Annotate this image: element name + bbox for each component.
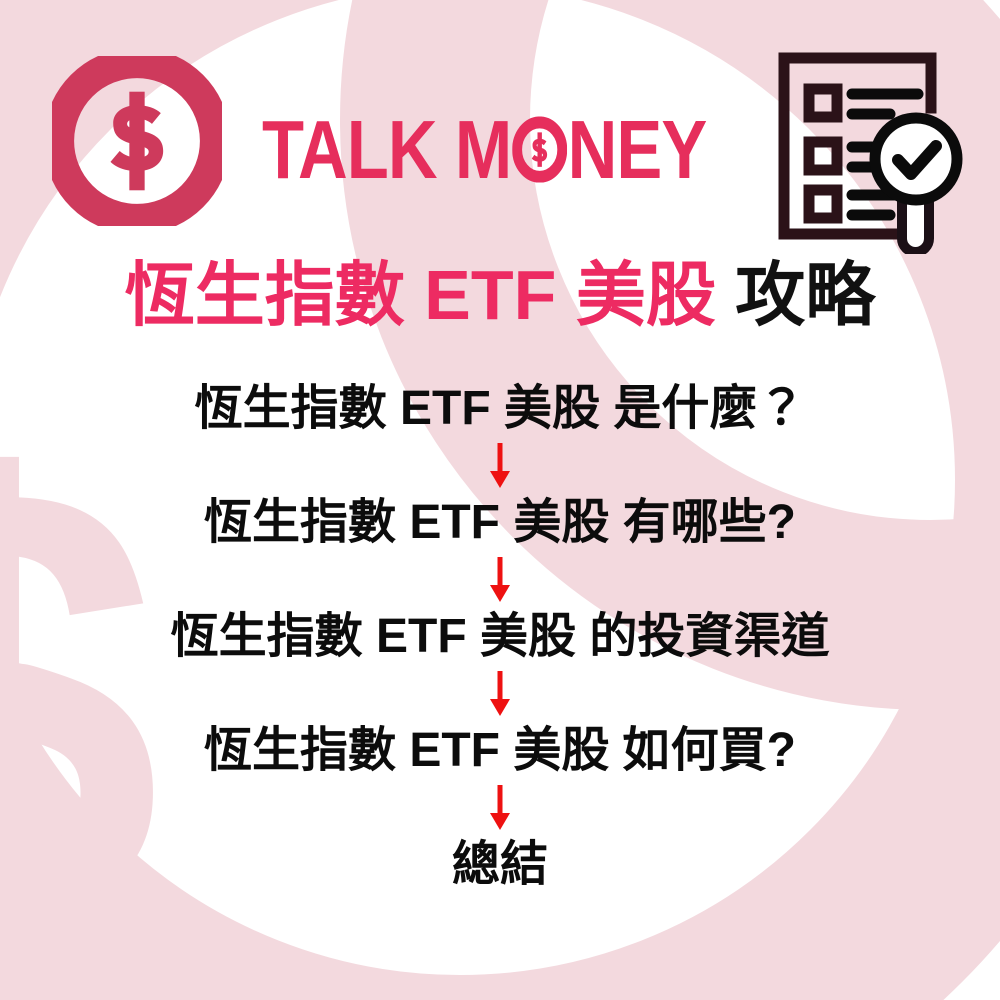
- flow-arrow-4: [0, 782, 1000, 834]
- infographic-canvas: $ TALK MNEY: [0, 0, 1000, 1000]
- brand-header: TALK MNEY: [0, 22, 1000, 242]
- clipboard-checklist-magnifier-icon: [766, 46, 978, 254]
- page-title: 恆生指數 ETF 美股 攻略: [0, 258, 1000, 334]
- flow-step-1[interactable]: 恆生指數 ETF 美股 是什麼？: [0, 378, 1000, 440]
- flow-arrow-3: [0, 668, 1000, 720]
- page-title-black: 攻略: [735, 256, 875, 334]
- flow-arrow-2: [0, 554, 1000, 606]
- page-title-pink: 恆生指數 ETF 美股: [125, 256, 716, 334]
- flow-step-5[interactable]: 總結: [0, 834, 1000, 896]
- flow-step-2[interactable]: 恆生指數 ETF 美股 有哪些?: [0, 492, 1000, 554]
- dollar-coin-logo-icon: [52, 56, 222, 226]
- wordmark-coin-o-icon: [512, 115, 567, 181]
- flow-step-3[interactable]: 恆生指數 ETF 美股 的投資渠道: [0, 606, 1000, 668]
- brand-wordmark: TALK MNEY: [262, 104, 740, 194]
- wordmark-part-2: NEY: [568, 103, 707, 196]
- brand-wordmark-text: TALK MNEY: [262, 101, 706, 196]
- flow-step-4[interactable]: 恆生指數 ETF 美股 如何買?: [0, 720, 1000, 782]
- flow-arrow-1: [0, 440, 1000, 492]
- flow-chart: 恆生指數 ETF 美股 是什麼？ 恆生指數 ETF 美股 有哪些? 恆生指數 E…: [0, 378, 1000, 896]
- content-layer: TALK MNEY: [0, 0, 1000, 1000]
- wordmark-part-1: TALK M: [262, 103, 511, 196]
